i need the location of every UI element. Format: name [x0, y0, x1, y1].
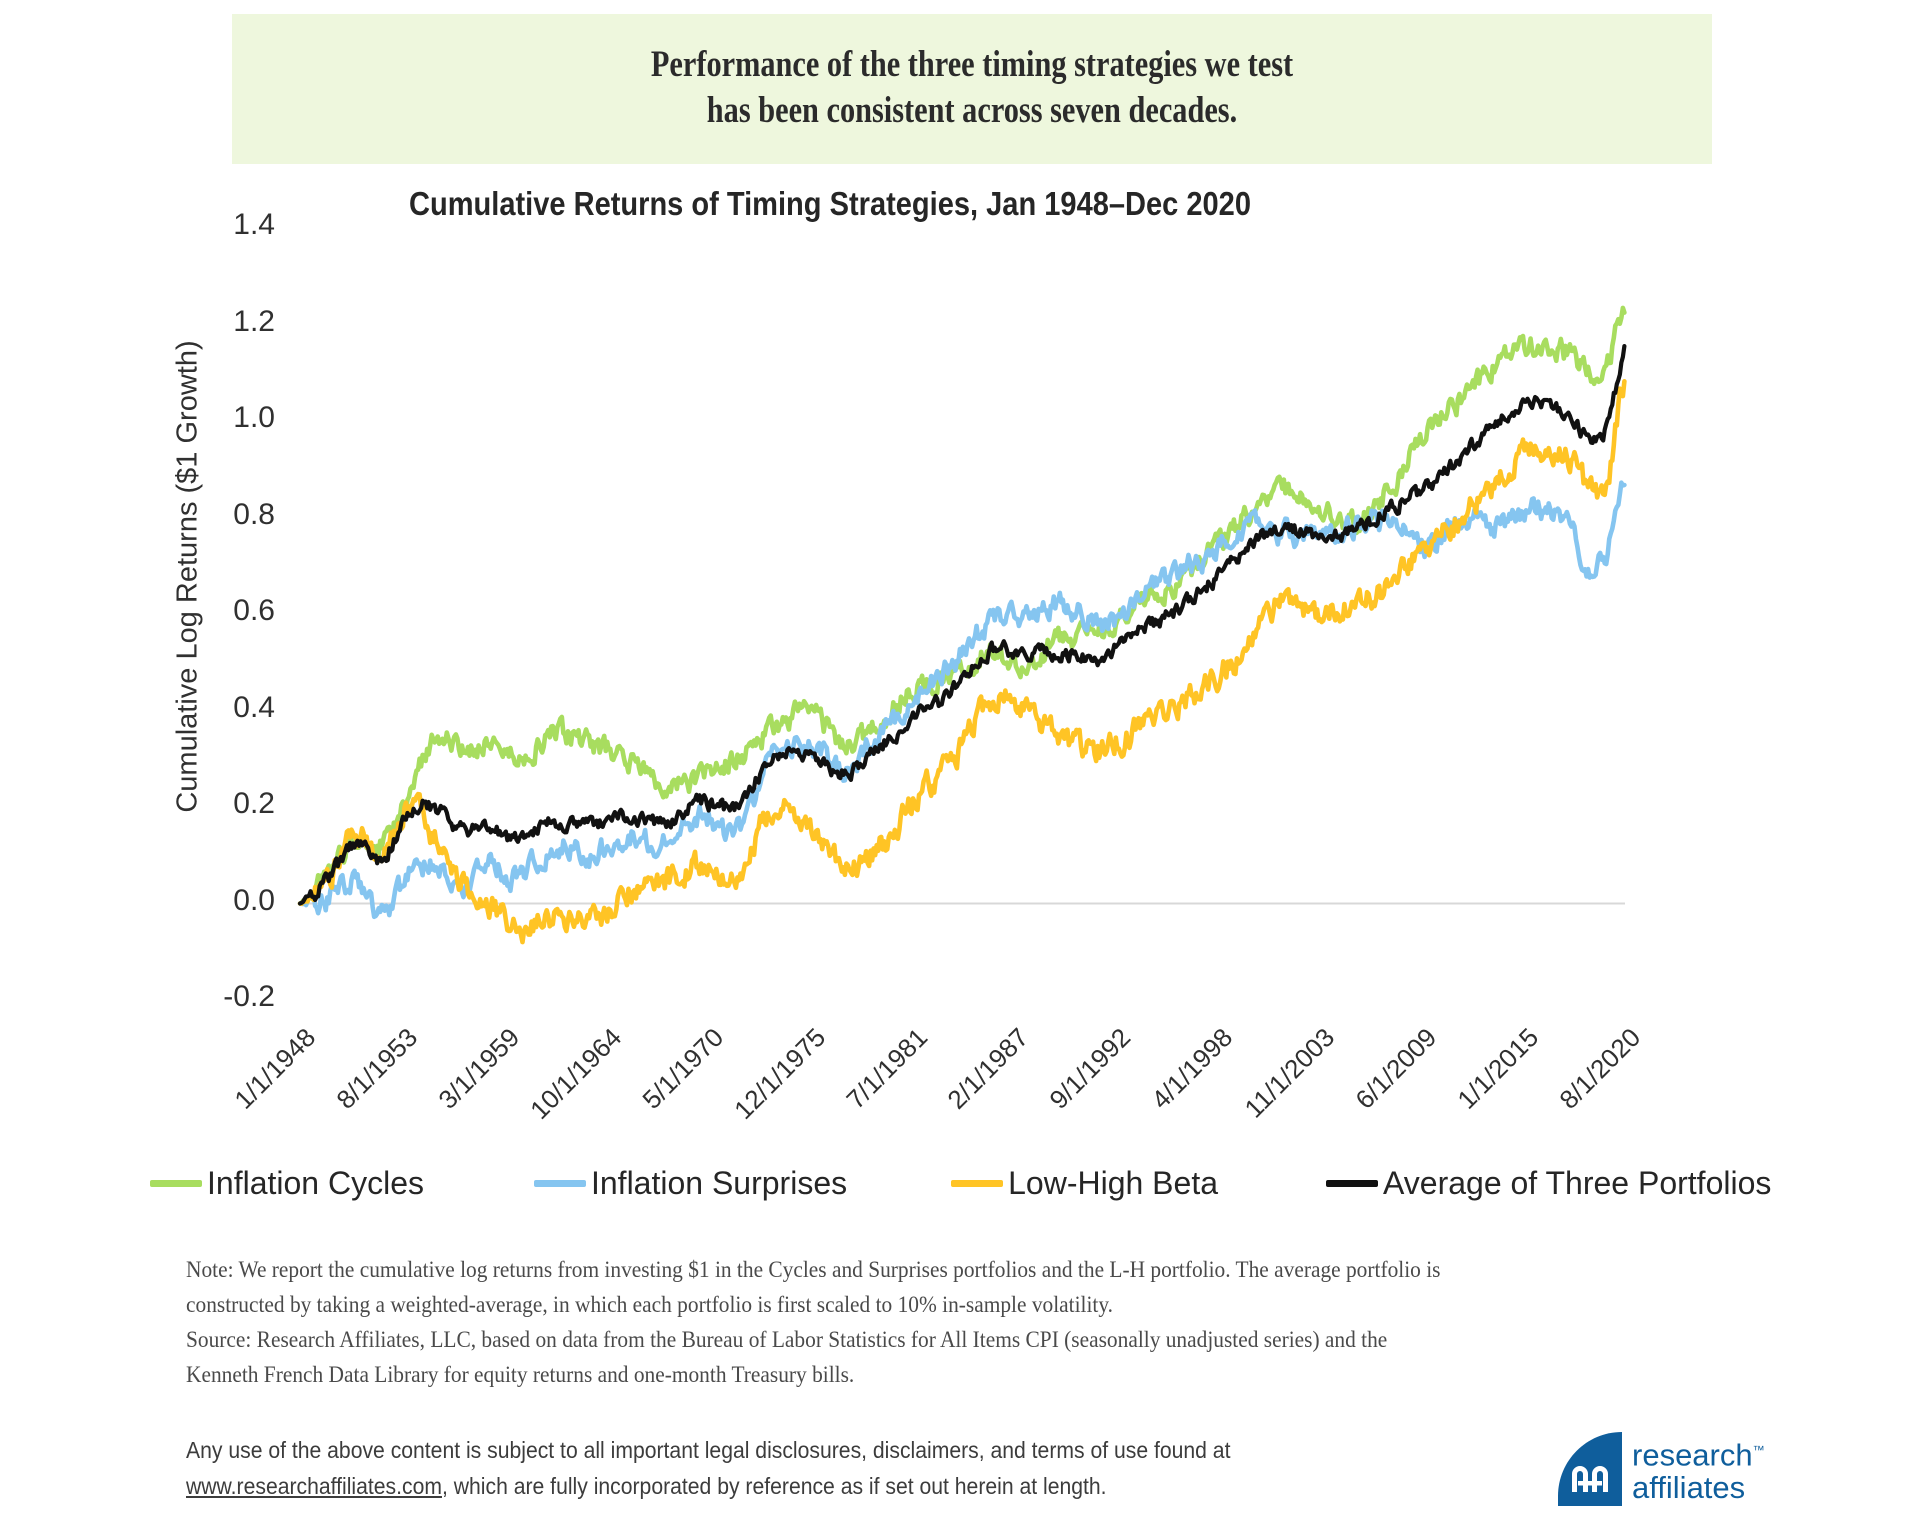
y-tick-label: 0.4: [155, 691, 275, 725]
legend-item-average-of-three-portfolios[interactable]: Average of Three Portfolios: [1326, 1165, 1771, 1202]
legend-item-inflation-cycles[interactable]: Inflation Cycles: [150, 1165, 424, 1202]
y-axis-label: Cumulative Log Returns ($1 Growth): [172, 297, 205, 857]
y-tick-label: 1.4: [155, 208, 275, 242]
source-line-2: Kenneth French Data Library for equity r…: [186, 1357, 1590, 1392]
y-tick-label: 0.0: [155, 884, 275, 918]
y-tick-label: -0.2: [155, 980, 275, 1014]
note-line-1: Note: We report the cumulative log retur…: [186, 1252, 1590, 1287]
research-affiliates-link[interactable]: www.researchaffiliates.com: [186, 1473, 442, 1499]
footer-text-before: Any use of the above content is subject …: [186, 1437, 1230, 1463]
legend-label: Average of Three Portfolios: [1383, 1165, 1771, 1202]
note-line-2: constructed by taking a weighted-average…: [186, 1287, 1590, 1322]
y-tick-label: 1.0: [155, 401, 275, 435]
legend-item-inflation-surprises[interactable]: Inflation Surprises: [534, 1165, 847, 1202]
footer-text-after: , which are fully incorporated by refere…: [442, 1473, 1107, 1499]
trademark-symbol: ™: [1753, 1443, 1765, 1457]
footer-disclaimer: Any use of the above content is subject …: [186, 1432, 1474, 1504]
y-tick-label: 0.6: [155, 594, 275, 628]
legend-swatch-icon: [150, 1180, 202, 1187]
series-line-inflation-cycles: [300, 308, 1624, 904]
legend-swatch-icon: [1326, 1180, 1378, 1187]
legend-item-low-high-beta[interactable]: Low-High Beta: [951, 1165, 1218, 1202]
legend-label: Low-High Beta: [1008, 1165, 1218, 1202]
y-tick-label: 0.2: [155, 787, 275, 821]
legend-swatch-icon: [534, 1180, 586, 1187]
chart-legend: Inflation CyclesInflation SurprisesLow-H…: [150, 1165, 1790, 1202]
legend-swatch-icon: [951, 1180, 1003, 1187]
logo-line-1: research: [1632, 1437, 1753, 1472]
legend-label: Inflation Cycles: [207, 1165, 424, 1202]
y-tick-label: 1.2: [155, 305, 275, 339]
logo-line-2: affiliates: [1632, 1471, 1765, 1504]
notes-block: Note: We report the cumulative log retur…: [186, 1252, 1590, 1392]
research-affiliates-logo: research™ affiliates: [1558, 1432, 1765, 1506]
chart-page: Performance of the three timing strategi…: [0, 0, 1920, 1527]
legend-label: Inflation Surprises: [591, 1165, 847, 1202]
logo-mark-icon: [1558, 1432, 1622, 1506]
y-tick-label: 0.8: [155, 498, 275, 532]
logo-wordmark: research™ affiliates: [1632, 1434, 1765, 1504]
source-line-1: Source: Research Affiliates, LLC, based …: [186, 1322, 1590, 1357]
